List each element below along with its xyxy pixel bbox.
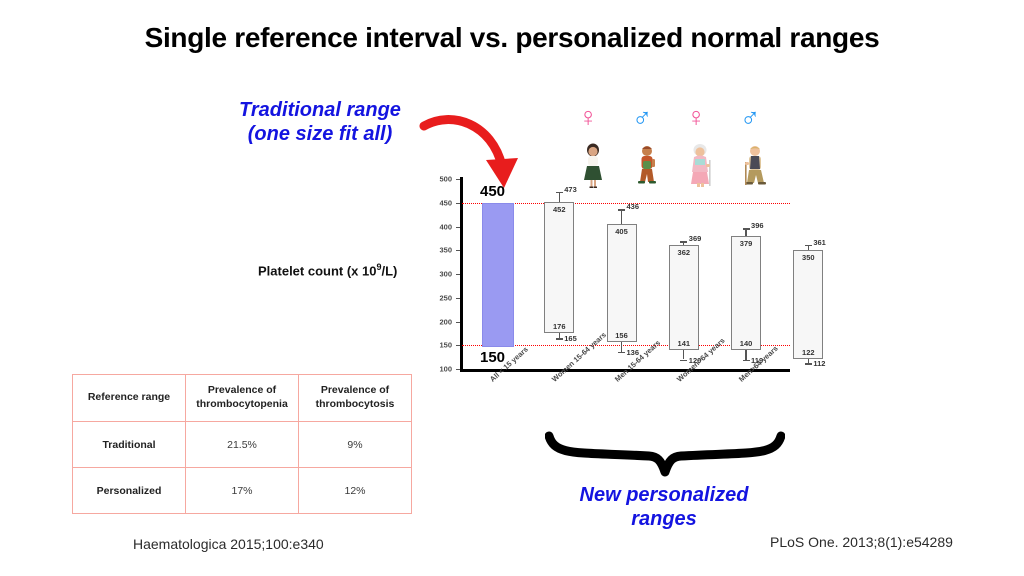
box-high-value: 362: [678, 248, 691, 257]
annotation-traditional-range: Traditional range (one size fit all): [212, 98, 428, 147]
annotation-personalized-ranges: New personalized ranges: [540, 483, 788, 532]
table-header-line: Prevalence of: [190, 384, 294, 398]
y-tick-label: 150: [428, 341, 452, 350]
table-row-label: Traditional: [73, 422, 186, 468]
annotation-personalized-line1: New personalized: [540, 483, 788, 507]
whisker-cap-lower: [618, 352, 625, 353]
y-tick-mark: [456, 298, 460, 299]
table-header-line: Prevalence of: [303, 384, 407, 398]
y-tick-label: 350: [428, 246, 452, 255]
box-low-value: 140: [740, 339, 753, 348]
whisker-cap-lower: [556, 338, 563, 339]
citation-right: PLoS One. 2013;8(1):e54289: [770, 534, 953, 550]
whisker-high-value: 369: [689, 234, 702, 243]
y-tick-mark: [456, 369, 460, 370]
whisker-cap-lower: [680, 360, 687, 361]
chart-plot-area: 1001502002503003504004505004501504521764…: [460, 177, 790, 372]
table-cell: 9%: [299, 422, 412, 468]
curly-brace-icon: [545, 430, 785, 482]
prevalence-table-wrapper: Reference rangePrevalence ofthrombocytop…: [72, 374, 412, 514]
y-axis-title-prefix: Platelet count (x 10: [258, 263, 376, 278]
y-tick-mark: [456, 203, 460, 204]
table-header-line: thrombocytosis: [303, 398, 407, 412]
whisker-cap-upper: [618, 209, 625, 210]
whisker-high-value: 396: [751, 221, 764, 230]
traditional-upper-label: 450: [480, 183, 505, 200]
y-tick-mark: [456, 345, 460, 346]
box-high-value: 379: [740, 239, 753, 248]
page-title: Single reference interval vs. personaliz…: [0, 22, 1024, 54]
range-box-bar: [669, 245, 699, 350]
table-header-cell: Reference range: [73, 375, 186, 422]
table-cell: 17%: [186, 468, 299, 514]
prevalence-table: Reference rangePrevalence ofthrombocytop…: [72, 374, 412, 514]
range-box-bar: [793, 250, 823, 358]
y-tick-mark: [456, 227, 460, 228]
female-symbol-icon: ♀: [578, 104, 598, 131]
chart-y-axis-title: Platelet count (x 109/L): [258, 262, 438, 278]
chart-y-axis: [460, 177, 463, 372]
table-row-label: Personalized: [73, 468, 186, 514]
whisker-lower: [745, 350, 746, 360]
y-tick-mark: [456, 322, 460, 323]
citation-left: Haematologica 2015;100:e340: [133, 536, 324, 552]
whisker-upper: [621, 209, 622, 224]
traditional-range-bar: [482, 203, 514, 348]
y-tick-label: 500: [428, 175, 452, 184]
whisker-lower: [621, 342, 622, 352]
y-tick-mark: [456, 250, 460, 251]
table-header-line: thrombocytopenia: [190, 398, 294, 412]
whisker-cap-upper: [743, 228, 750, 229]
table-header-line: Reference range: [77, 391, 181, 405]
y-tick-mark: [456, 179, 460, 180]
whisker-upper: [559, 192, 560, 202]
whisker-high-value: 361: [813, 238, 826, 247]
box-high-value: 350: [802, 253, 815, 262]
y-tick-label: 450: [428, 198, 452, 207]
platelet-count-chart: 1001502002503003504004505004501504521764…: [434, 172, 794, 382]
range-box-bar: [607, 224, 637, 342]
table-header-cell: Prevalence ofthrombocytopenia: [186, 375, 299, 422]
y-tick-label: 400: [428, 222, 452, 231]
slide-canvas: Single reference interval vs. personaliz…: [0, 0, 1024, 576]
whisker-low-value: 165: [564, 334, 577, 343]
whisker-low-value: 112: [813, 359, 825, 368]
box-low-value: 176: [553, 322, 566, 331]
table-cell: 21.5%: [186, 422, 299, 468]
y-tick-label: 250: [428, 293, 452, 302]
box-low-value: 141: [678, 339, 691, 348]
range-box-bar: [544, 202, 574, 333]
male-symbol-icon: ♂: [632, 104, 652, 131]
y-axis-title-suffix: /L): [382, 263, 398, 278]
whisker-cap-upper: [805, 245, 812, 246]
female-symbol-icon: ♀: [686, 104, 706, 131]
box-low-value: 156: [615, 331, 628, 340]
y-tick-label: 100: [428, 365, 452, 374]
y-tick-mark: [456, 274, 460, 275]
box-high-value: 405: [615, 227, 628, 236]
whisker-cap-upper: [680, 241, 687, 242]
table-cell: 12%: [299, 468, 412, 514]
table-header-cell: Prevalence ofthrombocytosis: [299, 375, 412, 422]
male-symbol-icon: ♂: [740, 104, 760, 131]
y-tick-label: 200: [428, 317, 452, 326]
box-low-value: 122: [802, 348, 815, 357]
table-row: Personalized17%12%: [73, 468, 412, 514]
whisker-high-value: 473: [564, 185, 577, 194]
annotation-traditional-line1: Traditional range: [212, 98, 428, 122]
table-header-row: Reference rangePrevalence ofthrombocytop…: [73, 375, 412, 422]
whisker-cap-lower: [805, 363, 812, 364]
whisker-lower: [683, 350, 684, 360]
whisker-high-value: 436: [627, 202, 640, 211]
annotation-traditional-line2: (one size fit all): [212, 122, 428, 146]
annotation-personalized-line2: ranges: [540, 507, 788, 531]
whisker-cap-upper: [556, 192, 563, 193]
table-row: Traditional21.5%9%: [73, 422, 412, 468]
range-box-bar: [731, 236, 761, 350]
box-high-value: 452: [553, 205, 566, 214]
whisker-cap-lower: [743, 360, 750, 361]
